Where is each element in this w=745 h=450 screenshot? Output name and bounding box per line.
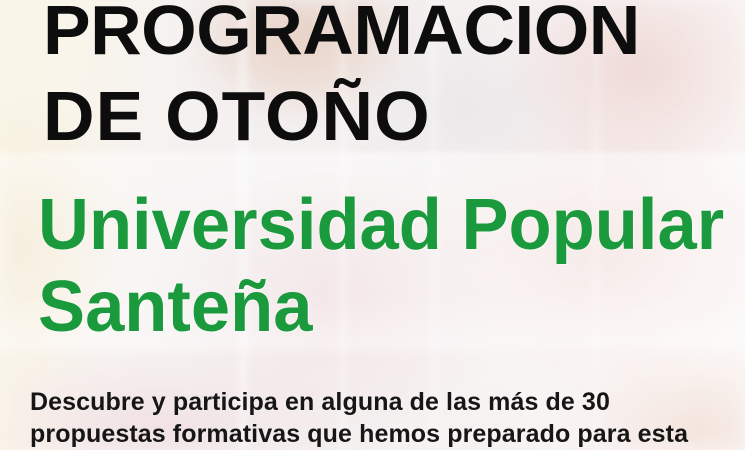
poster-title: PROGRAMACION DE OTOÑO bbox=[43, 0, 743, 159]
body-line-1: Descubre y participa en alguna de las má… bbox=[30, 386, 740, 418]
autumn-programme-poster: PROGRAMACION DE OTOÑO Universidad Popula… bbox=[0, 0, 745, 450]
subtitle-line-2: Santeña bbox=[38, 266, 729, 348]
title-line-2: DE OTOÑO bbox=[43, 73, 745, 159]
poster-body-text: Descubre y participa en alguna de las má… bbox=[30, 386, 740, 450]
subtitle-line-1: Universidad Popular bbox=[38, 184, 729, 266]
title-line-1: PROGRAMACION bbox=[43, 0, 745, 73]
poster-content: PROGRAMACION DE OTOÑO Universidad Popula… bbox=[0, 0, 745, 450]
body-line-2: propuestas formativas que hemos preparad… bbox=[30, 418, 740, 450]
poster-subtitle: Universidad Popular Santeña bbox=[38, 184, 743, 348]
